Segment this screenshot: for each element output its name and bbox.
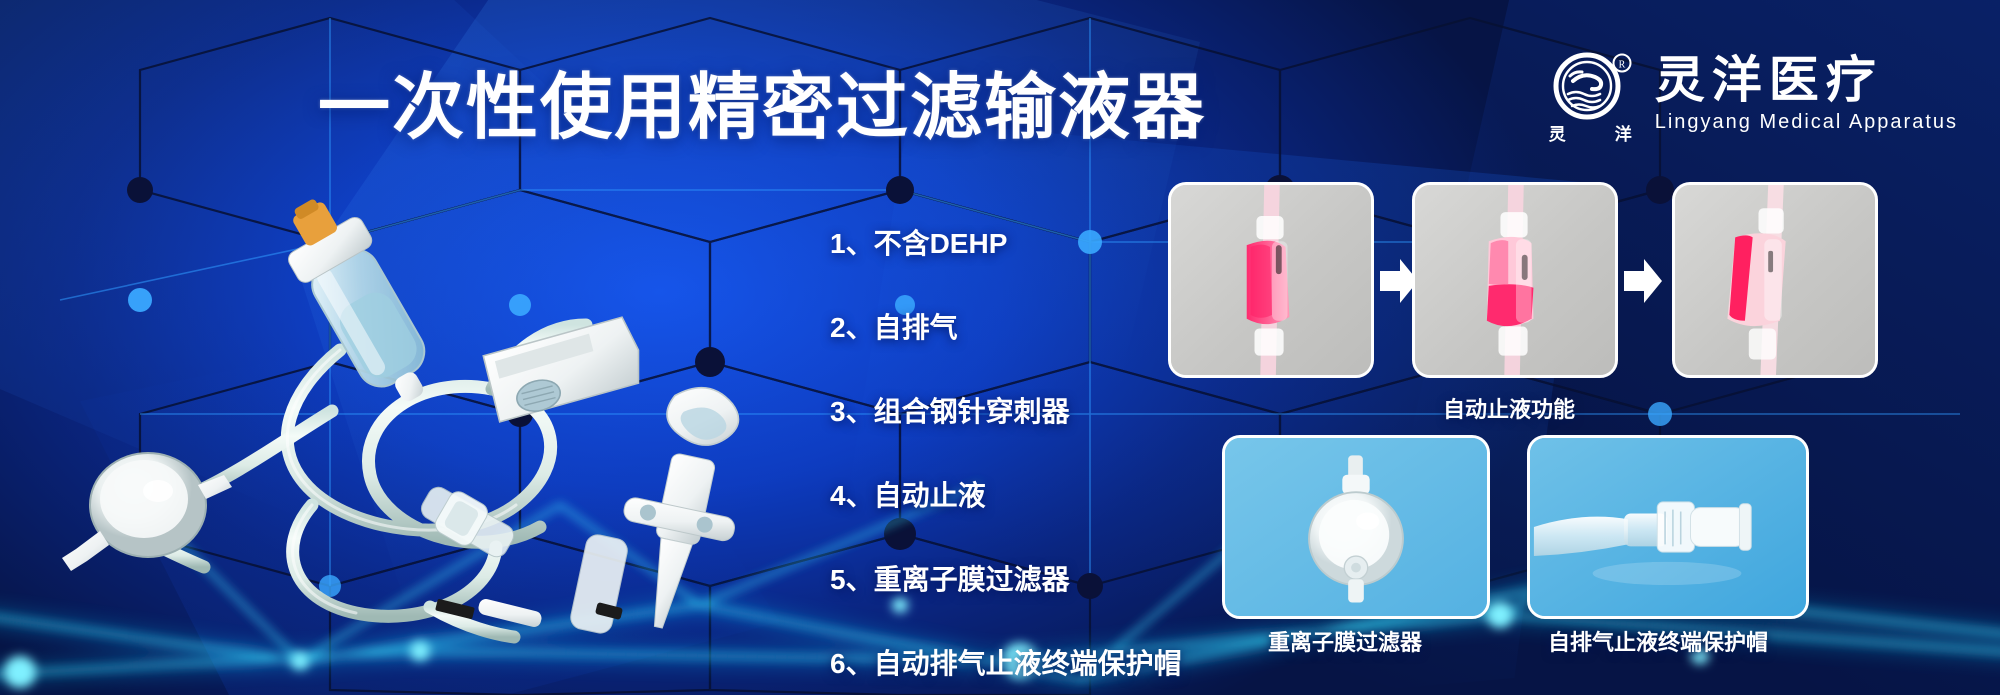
brand-name-cn: 灵洋医疗 [1655,54,1958,107]
drip-chamber-part [267,183,452,419]
photo-panel-protect-cap [1527,435,1809,619]
brand-name-block: 灵洋医疗 Lingyang Medical Apparatus [1655,54,1958,134]
svg-text:R: R [1618,60,1625,71]
feature-item-auto-stop: 4、自动止液 [830,474,1182,514]
product-photo-infusion-set [40,175,800,645]
feature-item-steel-needle: 3、组合钢针穿刺器 [830,390,1182,430]
photo-panel-autostop-step2 [1412,182,1618,378]
feature-item-hi-filter: 5、重离子膜过滤器 [830,558,1182,598]
product-banner: 一次性使用精密过滤输液器 R 灵 洋 灵洋医疗 Lingyang Medical… [0,0,2000,695]
photo-panel-autostop-step3 [1672,182,1878,378]
round-filter-part [62,453,232,571]
feature-item-no-dehp: 1、不含DEHP [830,222,1182,262]
photo-panel-hi-filter [1222,435,1490,619]
feature-item-self-exhaust: 2、自排气 [830,306,1182,346]
photo-panel-autostop-step1 [1168,182,1374,378]
page-title: 一次性使用精密过滤输液器 [318,48,1206,153]
steel-needle-piercer-part [569,370,762,645]
caption-protect-cap: 自排气止液终端保护帽 [1548,625,1768,657]
arrow-right-icon-2 [1622,255,1664,307]
brand-logo: R 灵 洋 灵洋医疗 Lingyang Medical Apparatus [1543,46,1958,142]
caption-autostop-function: 自动止液功能 [1443,392,1575,424]
y-injection-port-part [414,478,520,566]
logo-mark-char-right: 洋 [1615,120,1633,145]
brand-name-en: Lingyang Medical Apparatus [1655,111,1958,134]
feature-item-terminal-cap: 6、自动排气止液终端保护帽 [830,642,1182,682]
logo-emblem-icon: R 灵 洋 [1543,46,1639,142]
caption-hi-filter: 重离子膜过滤器 [1268,625,1422,657]
feature-list: 1、不含DEHP 2、自排气 3、组合钢针穿刺器 4、自动止液 5、重离子膜过滤… [830,222,1182,682]
logo-mark-char-left: 灵 [1549,120,1567,145]
